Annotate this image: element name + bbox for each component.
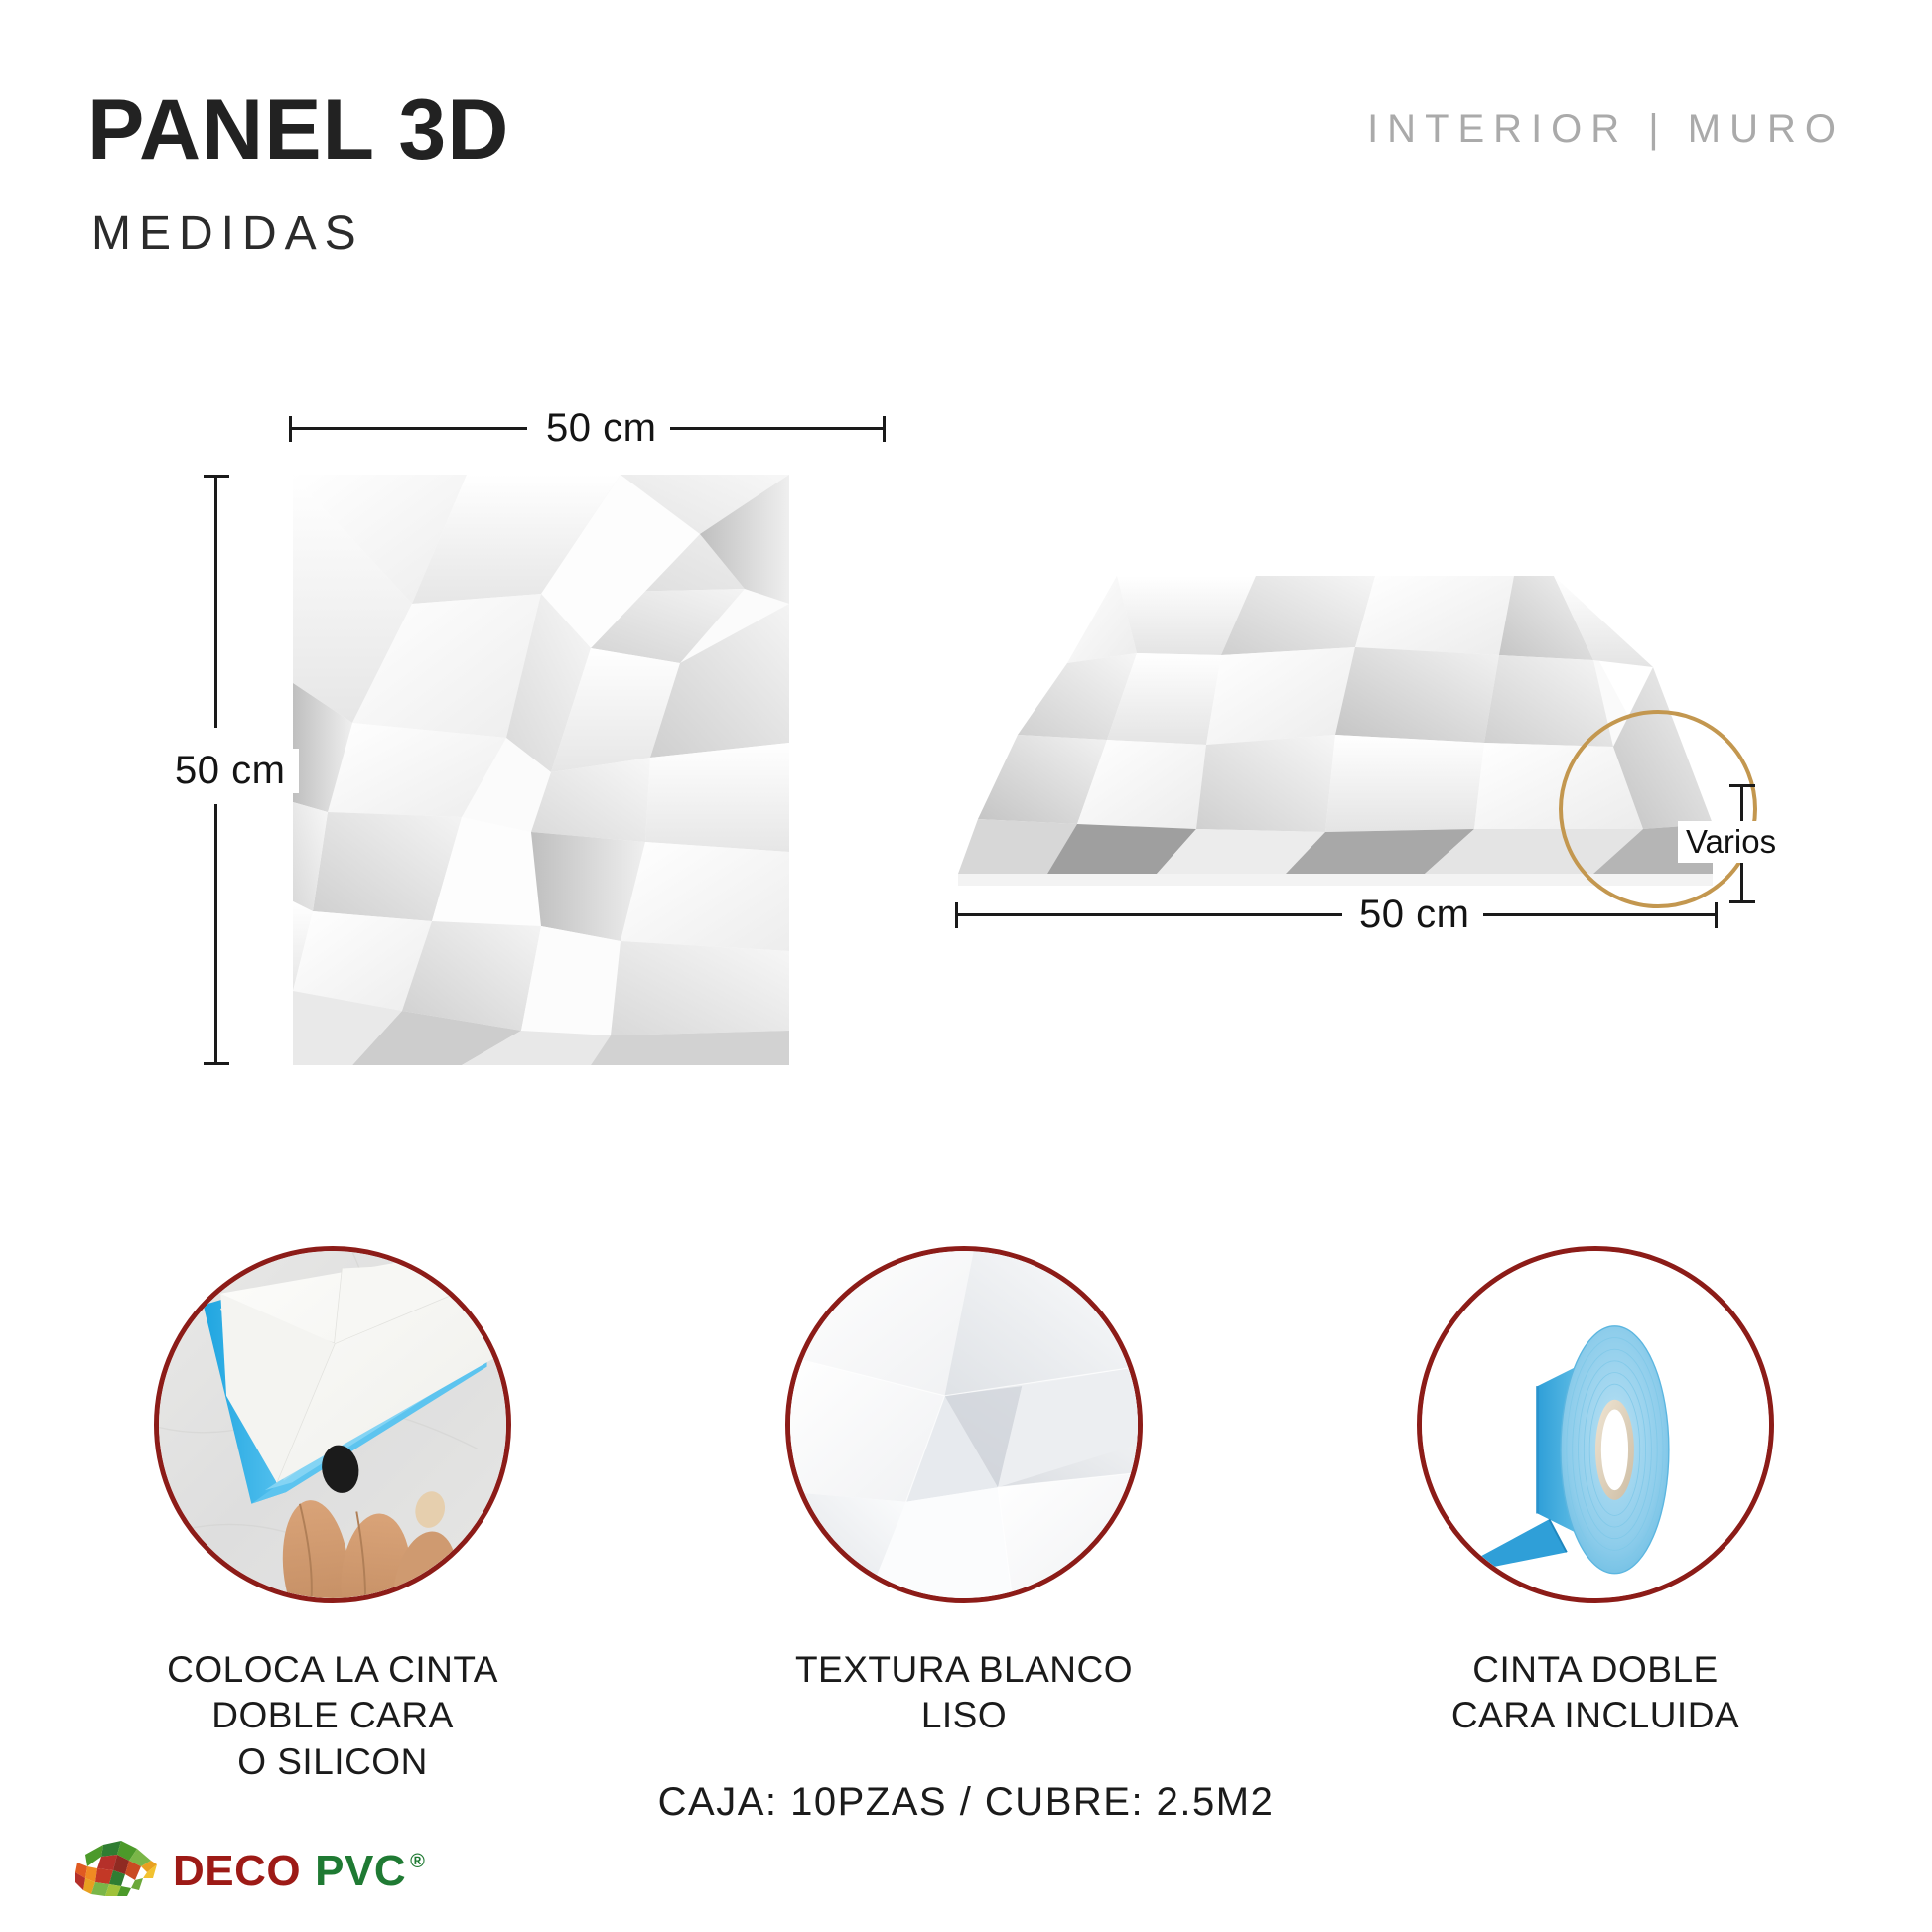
low-poly-rhino-icon: [73, 1839, 159, 1903]
page-subtitle: MEDIDAS: [91, 210, 364, 258]
front-width-label: 50 cm: [532, 406, 670, 451]
logo-brand-first: DECO: [173, 1850, 301, 1893]
logo-registered: ®: [410, 1852, 425, 1871]
feature-item-tape-included: CINTA DOBLE CARA INCLUIDA: [1417, 1246, 1774, 1739]
feature-caption: CINTA DOBLE CARA INCLUIDA: [1417, 1647, 1774, 1739]
box-info-text: CAJA: 10PZAS / CUBRE: 2.5M2: [0, 1780, 1932, 1825]
category-label: INTERIOR | MURO: [1367, 109, 1845, 149]
perspective-width-label: 50 cm: [1345, 893, 1483, 937]
blue-double-sided-tape-roll-image: [1422, 1251, 1769, 1598]
front-panel-image: [293, 475, 789, 1065]
thickness-label: Varios: [1678, 821, 1784, 863]
hand-applying-blue-double-sided-tape-on-panel-image: [159, 1251, 506, 1598]
logo-wordmark: DECO PVC ®: [173, 1850, 425, 1893]
feature-image-circle: [785, 1246, 1143, 1603]
white-smooth-diamond-texture-closeup-image: [790, 1251, 1138, 1598]
feature-caption: COLOCA LA CINTA DOBLE CARA O SILICON: [154, 1647, 511, 1785]
logo-brand-second: PVC: [315, 1850, 406, 1893]
feature-image-circle: [1417, 1246, 1774, 1603]
thickness-callout-circle: [1559, 710, 1757, 908]
infographic-page: PANEL 3D MEDIDAS INTERIOR | MURO: [0, 0, 1932, 1932]
brand-logo[interactable]: DECO PVC ®: [73, 1839, 425, 1903]
feature-image-circle: [154, 1246, 511, 1603]
feature-item-tape-application: COLOCA LA CINTA DOBLE CARA O SILICON: [154, 1246, 511, 1785]
feature-item-texture: TEXTURA BLANCO LISO: [785, 1246, 1143, 1739]
page-title: PANEL 3D: [87, 87, 509, 173]
feature-caption: TEXTURA BLANCO LISO: [785, 1647, 1143, 1739]
front-height-label: 50 cm: [161, 749, 299, 793]
